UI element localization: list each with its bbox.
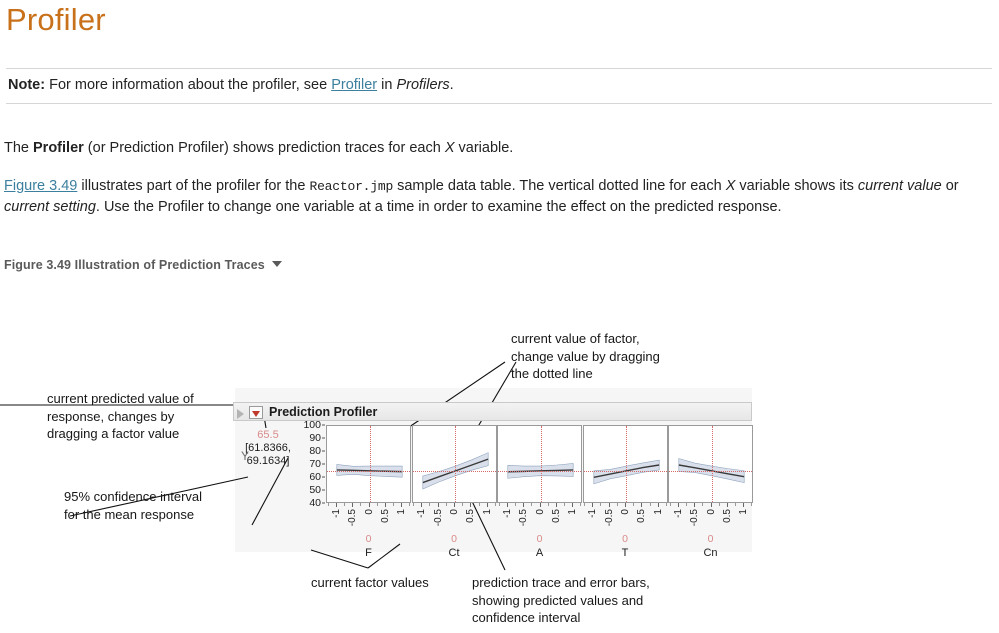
x-axis-group-f: -1-0.500.510F — [326, 503, 411, 547]
disclosure-triangle-icon[interactable] — [237, 409, 244, 419]
p2-var-x: X — [726, 178, 736, 194]
current-prediction-dotted-line — [669, 471, 752, 472]
factor-current-setting-a[interactable]: 0 — [497, 533, 582, 545]
current-prediction-dotted-line — [498, 471, 581, 472]
x-tick-label: -0.5 — [689, 509, 700, 526]
profiler-panels — [326, 425, 752, 503]
x-tick-label: 1 — [567, 509, 578, 515]
p2-part-c: variable shows its — [735, 178, 858, 194]
current-prediction-dotted-line — [413, 471, 496, 472]
x-tick-marks — [668, 503, 753, 508]
note-text-middle: in — [377, 77, 396, 93]
annotation-current-factor-values: current factor values — [311, 574, 429, 592]
y-tick-mark — [322, 438, 325, 439]
profiler-panel-t[interactable] — [583, 425, 668, 503]
current-value-dotted-line[interactable] — [455, 426, 456, 502]
x-axis-group-ct: -1-0.500.510Ct — [412, 503, 497, 547]
current-value-dotted-line[interactable] — [712, 426, 713, 502]
x-tick-marks — [497, 503, 582, 508]
x-tick-label: 0.5 — [722, 509, 733, 523]
y-tick-label: 80 — [309, 445, 321, 457]
x-tick-label: 0.5 — [636, 509, 647, 523]
factor-current-setting-cn[interactable]: 0 — [668, 533, 753, 545]
profiler-panel-a[interactable] — [497, 425, 582, 503]
x-tick-marks — [583, 503, 668, 508]
x-tick-label: 1 — [738, 509, 749, 515]
note-bottom-rule — [6, 103, 992, 104]
y-tick-label: 70 — [309, 458, 321, 470]
red-triangle-menu-icon[interactable] — [249, 406, 263, 419]
chevron-down-icon[interactable] — [272, 261, 282, 267]
x-tick-label: 0 — [449, 509, 460, 515]
note-text-before: For more information about the profiler,… — [45, 77, 331, 93]
current-prediction-dotted-line — [327, 471, 410, 472]
x-tick-label: -0.5 — [518, 509, 529, 526]
p1-part-b: (or Prediction Profiler) shows predictio… — [84, 140, 445, 156]
p1-var-x: X — [445, 140, 455, 156]
note-text-after: . — [450, 77, 454, 93]
annotation-prediction-trace: prediction trace and error bars, showing… — [472, 574, 650, 627]
x-tick-label: -0.5 — [433, 509, 444, 526]
x-tick-label: -1 — [587, 509, 598, 518]
annotation-confidence-interval: 95% confidence interval for the mean res… — [64, 488, 202, 523]
annotation-current-predicted-value: current predicted value of response, cha… — [47, 390, 194, 443]
profiler-panel-f[interactable] — [326, 425, 411, 503]
p2-italic-current-setting: current setting — [4, 199, 96, 215]
x-tick-label: -1 — [502, 509, 513, 518]
x-tick-label: 0.5 — [380, 509, 391, 523]
p2-part-b: sample data table. The vertical dotted l… — [393, 178, 726, 194]
y-tick-label: 90 — [309, 432, 321, 444]
y-tick-label: 40 — [309, 497, 321, 509]
y-tick-label: 100 — [303, 419, 321, 431]
x-tick-label: 1 — [482, 509, 493, 515]
factor-name-t: T — [583, 547, 668, 559]
p2-part-a: illustrates part of the profiler for the — [77, 178, 309, 194]
paragraph-intro: The Profiler (or Prediction Profiler) sh… — [4, 138, 992, 159]
annotation-current-value-of-factor: current value of factor, change value by… — [511, 330, 660, 383]
profiler-plot-block: 65.5 [61.8366, 69.1634] Y 10090807060504… — [233, 425, 752, 547]
x-tick-label: 0 — [535, 509, 546, 515]
x-tick-label: -1 — [416, 509, 427, 518]
y-axis-ticks: 100908070605040 — [297, 425, 325, 503]
x-tick-label: 0.5 — [551, 509, 562, 523]
figure-reference-link[interactable]: Figure 3.49 — [4, 178, 77, 194]
profiler-panel-ct[interactable] — [412, 425, 497, 503]
note-italic-profilers: Profilers — [396, 77, 449, 93]
y-tick-mark — [322, 490, 325, 491]
note-text: Note: For more information about the pro… — [6, 69, 992, 103]
note-profiler-link[interactable]: Profiler — [331, 77, 377, 93]
x-tick-label: 1 — [396, 509, 407, 515]
figure-caption[interactable]: Figure 3.49 Illustration of Prediction T… — [4, 258, 282, 272]
y-tick-mark — [322, 503, 325, 504]
p2-italic-current-value: current value — [858, 178, 942, 194]
x-axis-group-t: -1-0.500.510T — [583, 503, 668, 547]
p2-part-d: or — [942, 178, 959, 194]
current-value-dotted-line[interactable] — [370, 426, 371, 502]
p1-part-c: variable. — [455, 140, 514, 156]
profiler-title: Prediction Profiler — [269, 405, 377, 419]
note-label: Note: — [8, 77, 45, 93]
x-tick-marks — [412, 503, 497, 508]
x-tick-label: -1 — [673, 509, 684, 518]
figure-caption-text: Figure 3.49 Illustration of Prediction T… — [4, 258, 265, 272]
x-axis-groups: -1-0.500.510F-1-0.500.510Ct-1-0.500.510A… — [326, 503, 752, 547]
figure-illustration: current predicted value of response, cha… — [0, 282, 999, 633]
note-block: Note: For more information about the pro… — [6, 68, 992, 104]
factor-name-f: F — [326, 547, 411, 559]
x-tick-label: 0 — [364, 509, 375, 515]
current-value-dotted-line[interactable] — [626, 426, 627, 502]
paragraph-figure-description: Figure 3.49 illustrates part of the prof… — [4, 176, 992, 218]
y-tick-mark — [322, 451, 325, 452]
p1-part-a: The — [4, 140, 33, 156]
y-tick-mark — [322, 477, 325, 478]
x-tick-label: 0 — [620, 509, 631, 515]
x-axis-group-cn: -1-0.500.510Cn — [668, 503, 753, 547]
factor-name-a: A — [497, 547, 582, 559]
current-prediction-dotted-line — [584, 471, 667, 472]
y-tick-label: 50 — [309, 484, 321, 496]
x-tick-label: -1 — [331, 509, 342, 518]
x-tick-label: -0.5 — [347, 509, 358, 526]
x-tick-label: 0.5 — [465, 509, 476, 523]
x-tick-label: 0 — [706, 509, 717, 515]
factor-current-setting-t[interactable]: 0 — [583, 533, 668, 545]
x-tick-marks — [326, 503, 411, 508]
y-tick-mark — [322, 464, 325, 465]
y-tick-mark — [322, 425, 325, 426]
page-root: Profiler Note: For more information abou… — [0, 0, 999, 633]
x-tick-label: -0.5 — [604, 509, 615, 526]
y-axis-label: Y — [241, 449, 249, 463]
factor-name-cn: Cn — [668, 547, 753, 559]
page-title: Profiler — [6, 2, 106, 38]
factor-current-setting-ct[interactable]: 0 — [412, 533, 497, 545]
y-current-value[interactable]: 65.5 — [237, 429, 299, 442]
x-axis-group-a: -1-0.500.510A — [497, 503, 582, 547]
profiler-panel-cn[interactable] — [668, 425, 753, 503]
p1-bold-profiler: Profiler — [33, 140, 84, 156]
x-tick-label: 1 — [653, 509, 664, 515]
y-tick-label: 60 — [309, 471, 321, 483]
factor-current-setting-f[interactable]: 0 — [326, 533, 411, 545]
current-value-dotted-line[interactable] — [541, 426, 542, 502]
p2-part-e: . Use the Profiler to change one variabl… — [96, 199, 782, 215]
factor-name-ct: Ct — [412, 547, 497, 559]
p2-sample-table-name: Reactor.jmp — [309, 179, 393, 194]
